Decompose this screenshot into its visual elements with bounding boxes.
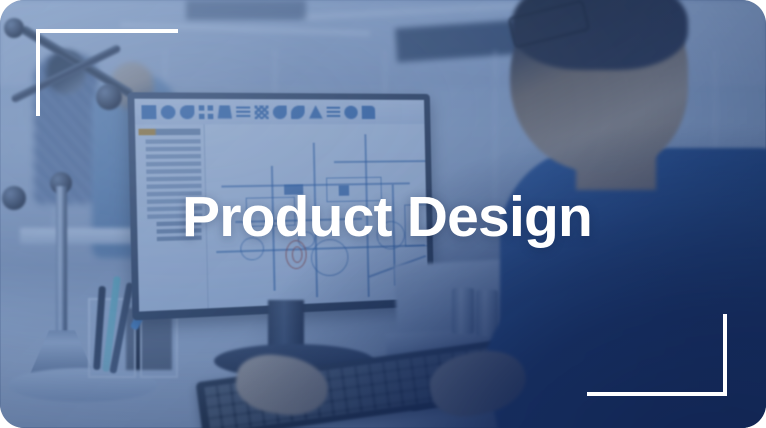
top-left-bracket-vertical (36, 29, 40, 116)
page-title: Product Design (182, 186, 602, 248)
product-design-banner: Product Design (0, 0, 766, 428)
bottom-right-bracket-horizontal (587, 392, 727, 396)
top-left-bracket (36, 29, 178, 116)
bottom-right-bracket-vertical (723, 314, 727, 396)
top-left-bracket-horizontal (36, 29, 178, 33)
bottom-right-bracket (587, 314, 727, 396)
